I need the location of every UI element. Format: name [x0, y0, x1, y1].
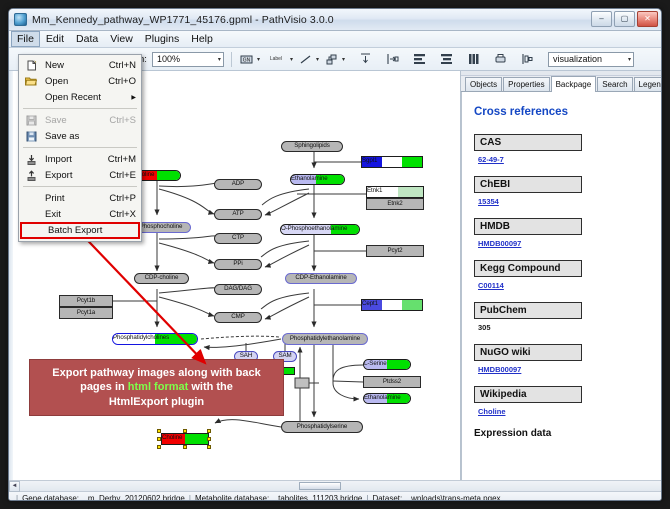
- interaction-tool-icon[interactable]: [324, 52, 339, 67]
- file-menu-accel-exit: Ctrl+X: [109, 209, 136, 220]
- tab-properties[interactable]: Properties: [503, 77, 549, 91]
- callout-line2-before: pages in: [80, 381, 128, 393]
- file-menu-item-save[interactable]: Save Ctrl+S: [19, 112, 141, 128]
- callout-line2-after: with the: [188, 381, 233, 393]
- toolbar-separator: [231, 52, 232, 67]
- maximize-button[interactable]: ▢: [614, 11, 635, 27]
- node-phosphatidylcholines-label: Phosphatidylcholines: [113, 334, 197, 344]
- interaction-dropdown-icon[interactable]: ▾: [342, 56, 345, 63]
- status-sep-1: |: [189, 494, 191, 501]
- xref-section-chebi: ChEBI: [474, 176, 582, 193]
- file-menu-label-open-recent: Open Recent: [45, 92, 101, 103]
- node-choline-selected[interactable]: Choline: [161, 433, 209, 445]
- xref-link-kegg[interactable]: C00114: [478, 281, 504, 290]
- node-etnk2[interactable]: Etnk2: [366, 198, 424, 210]
- node-choline-selected-label: Choline: [162, 434, 208, 444]
- file-menu-item-print[interactable]: Print Ctrl+P: [19, 190, 141, 206]
- gene-product-tool-icon[interactable]: GN: [239, 52, 254, 67]
- file-menu-item-save-as[interactable]: Save as: [19, 128, 141, 144]
- xref-section-wikipedia: Wikipedia: [474, 386, 582, 403]
- node-phosphatidylethanolamine[interactable]: Phosphatidylethanolamine: [282, 333, 368, 345]
- file-menu-accel-import: Ctrl+M: [108, 154, 136, 165]
- status-gene-database-label: Gene database:: [22, 494, 79, 501]
- node-o-phosphoethanolamine[interactable]: O-Phosphoethanolamine: [280, 224, 360, 235]
- close-button[interactable]: ✕: [637, 11, 658, 27]
- gene-product-dropdown-icon[interactable]: ▾: [257, 56, 260, 63]
- node-cdp-ethanolamine[interactable]: CDP-Ethanolamine: [285, 273, 357, 284]
- align-top-tool-icon[interactable]: [358, 52, 373, 67]
- menu-plugins[interactable]: Plugins: [139, 31, 185, 47]
- tab-search[interactable]: Search: [597, 77, 632, 91]
- status-sep-0: |: [16, 494, 18, 501]
- file-menu-label-save: Save: [45, 115, 67, 126]
- annotation-callout: Export pathway images along with back pa…: [29, 359, 284, 416]
- file-menu-item-open[interactable]: Open Ctrl+O: [19, 73, 141, 89]
- menu-file[interactable]: File: [11, 31, 40, 47]
- node-dag[interactable]: DAG/DAG: [214, 284, 262, 295]
- file-menu-label-export: Export: [45, 170, 72, 181]
- save-icon: [25, 114, 37, 126]
- chevron-right-icon: ▶: [131, 94, 136, 101]
- import-icon: [25, 153, 37, 165]
- menu-edit[interactable]: Edit: [40, 31, 70, 47]
- xref-value-kegg[interactable]: C00114: [478, 281, 649, 290]
- node-cept1-label: Cept1: [362, 300, 422, 310]
- callout-line2-highlight: html format: [128, 381, 189, 393]
- file-menu-label-open: Open: [45, 76, 68, 87]
- status-metabolite-database-value: ...tabolites_111203.bridge: [271, 494, 362, 501]
- file-menu-separator-3: [23, 186, 137, 187]
- new-file-icon: [25, 59, 37, 71]
- node-ptdss2[interactable]: Ptdss2: [363, 376, 421, 388]
- node-cdp-choline[interactable]: CDP-choline: [134, 273, 189, 284]
- align-left-tool-icon[interactable]: [385, 52, 400, 67]
- xref-value-cas[interactable]: 62-49-7: [478, 155, 649, 164]
- xref-value-pubchem: 305: [478, 323, 649, 332]
- backpage-content: Cross references CAS 62-49-7 ChEBI 15354…: [461, 92, 661, 480]
- file-menu-accel-save: Ctrl+S: [109, 115, 136, 126]
- window-controls: – ▢ ✕: [591, 11, 658, 27]
- node-sgpl1-label: Sgpl1: [362, 157, 422, 167]
- xref-link-wikipedia[interactable]: Choline: [478, 407, 506, 416]
- node-ethanolamine[interactable]: Ethanolamine: [290, 174, 345, 185]
- menu-data[interactable]: Data: [70, 31, 104, 47]
- common-height-tool-icon[interactable]: [520, 52, 535, 67]
- chevron-down-icon: ▾: [628, 56, 631, 63]
- file-menu-accel-new: Ctrl+N: [109, 60, 136, 71]
- node-sgpl1[interactable]: Sgpl1: [361, 156, 423, 168]
- xref-section-hmdb: HMDB: [474, 218, 582, 235]
- pathvisio-icon: [14, 13, 27, 26]
- file-menu-accel-open: Ctrl+O: [108, 76, 136, 87]
- chevron-down-icon: ▾: [218, 56, 221, 63]
- xref-section-kegg: Kegg Compound: [474, 260, 582, 277]
- menu-bar: File Edit Data View Plugins Help: [9, 31, 661, 48]
- file-menu-label-new: New: [45, 60, 64, 71]
- status-gene-database-value: ...m_Derby_20120602.bridge: [81, 494, 185, 501]
- side-panel-tabs: Objects Properties Backpage Search Legen…: [461, 76, 661, 92]
- xref-link-nugo[interactable]: HMDB00097: [478, 365, 521, 374]
- node-ethanolamine-label: Ethanolamine: [291, 175, 344, 184]
- node-ethanolamine-2[interactable]: Ethanolamine: [363, 393, 411, 404]
- line-dropdown-icon[interactable]: ▾: [316, 56, 319, 63]
- node-l-serine-label: L-Serine: [364, 360, 410, 369]
- label-tool-icon[interactable]: Label: [265, 52, 287, 67]
- file-menu-item-exit[interactable]: Exit Ctrl+X: [19, 206, 141, 222]
- node-ppi[interactable]: PPi: [214, 259, 262, 270]
- side-panel: Objects Properties Backpage Search Legen…: [461, 71, 661, 480]
- align-stack-tool-icon[interactable]: [412, 52, 427, 67]
- node-ethanolamine-2-label: Ethanolamine: [364, 394, 410, 403]
- node-o-phosphoethanolamine-label: O-Phosphoethanolamine: [281, 225, 359, 234]
- xref-value-hmdb[interactable]: HMDB00097: [478, 239, 649, 248]
- status-sep-2: |: [366, 494, 368, 501]
- tab-legend[interactable]: Legend: [634, 77, 662, 91]
- file-menu-accel-print: Ctrl+P: [109, 193, 136, 204]
- backpage-heading: Cross references: [474, 106, 649, 118]
- node-atp[interactable]: ATP: [214, 209, 262, 220]
- xref-value-nugo[interactable]: HMDB00097: [478, 365, 649, 374]
- screenshot-root: Mm_Kennedy_pathway_WP1771_45176.gpml - P…: [0, 0, 670, 509]
- node-adp[interactable]: ADP: [214, 179, 262, 190]
- title-bar: Mm_Kennedy_pathway_WP1771_45176.gpml - P…: [9, 9, 661, 31]
- node-pcyt1b[interactable]: Pcyt1b: [59, 295, 113, 307]
- file-menu-separator-2: [23, 147, 137, 148]
- export-icon: [25, 169, 37, 181]
- node-pcyt2[interactable]: Pcyt2: [366, 245, 424, 257]
- xref-section-pubchem: PubChem: [474, 302, 582, 319]
- xref-value-wikipedia[interactable]: Choline: [478, 407, 649, 416]
- minimize-button[interactable]: –: [591, 11, 612, 27]
- xref-section-cas: CAS: [474, 134, 582, 151]
- status-dataset-value: ...wnloads\trans-meta.pgex: [404, 494, 500, 501]
- visualization-value: visualization: [553, 54, 602, 64]
- node-etnk1-label: Etnk1: [367, 187, 423, 197]
- common-width-tool-icon[interactable]: [466, 52, 481, 67]
- menu-view[interactable]: View: [104, 31, 139, 47]
- node-ctp[interactable]: CTP: [214, 233, 262, 244]
- align-center-tool-icon[interactable]: [439, 52, 454, 67]
- tab-objects[interactable]: Objects: [465, 77, 502, 91]
- print-preview-tool-icon[interactable]: [493, 52, 508, 67]
- file-menu-label-print: Print: [45, 193, 65, 204]
- visualization-combo[interactable]: visualization ▾: [548, 52, 634, 67]
- node-l-serine[interactable]: L-Serine: [363, 359, 411, 370]
- file-menu-label-batch-export: Batch Export: [48, 225, 102, 236]
- scroll-left-icon[interactable]: ◄: [9, 481, 20, 492]
- file-menu-item-new[interactable]: New Ctrl+N: [19, 57, 141, 73]
- xref-link-hmdb[interactable]: HMDB00097: [478, 239, 521, 248]
- status-bar: | Gene database: ...m_Derby_20120602.bri…: [9, 491, 661, 501]
- file-menu-item-batch-export[interactable]: Batch Export: [20, 222, 140, 239]
- file-menu-separator-1: [23, 108, 137, 109]
- callout-line3: HtmlExport plugin: [109, 396, 204, 408]
- node-cept1[interactable]: Cept1: [361, 299, 423, 311]
- horizontal-scrollbar[interactable]: ◄: [9, 480, 661, 491]
- label-dropdown-icon[interactable]: ▾: [290, 56, 293, 63]
- xref-section-nugo: NuGO wiki: [474, 344, 582, 361]
- zoom-value: 100%: [157, 54, 180, 64]
- xref-value-chebi[interactable]: 15354: [478, 197, 649, 206]
- line-tool-icon[interactable]: [298, 52, 313, 67]
- folder-open-icon: [25, 75, 37, 87]
- file-menu-label-save-as: Save as: [45, 131, 79, 142]
- callout-line1: Export pathway images along with back: [52, 367, 260, 379]
- file-menu-accel-export: Ctrl+E: [109, 170, 136, 181]
- node-pcyt1a[interactable]: Pcyt1a: [59, 307, 113, 319]
- file-menu-item-export[interactable]: Export Ctrl+E: [19, 167, 141, 183]
- node-phosphatidylcholines[interactable]: Phosphatidylcholines: [112, 333, 198, 345]
- window-title: Mm_Kennedy_pathway_WP1771_45176.gpml - P…: [32, 14, 334, 26]
- expression-data-heading: Expression data: [474, 428, 649, 439]
- file-menu-label-exit: Exit: [45, 209, 61, 220]
- node-etnk1[interactable]: Etnk1: [366, 186, 424, 198]
- xref-link-cas[interactable]: 62-49-7: [478, 155, 504, 164]
- status-dataset-label: Dataset:: [372, 494, 402, 501]
- xref-link-chebi[interactable]: 15354: [478, 197, 499, 206]
- file-menu-item-import[interactable]: Import Ctrl+M: [19, 151, 141, 167]
- tab-backpage[interactable]: Backpage: [551, 76, 597, 92]
- file-menu-item-open-recent[interactable]: Open Recent ▶: [19, 89, 141, 105]
- node-cmp[interactable]: CMP: [214, 312, 262, 323]
- save-as-icon: [25, 130, 37, 142]
- application-window: Mm_Kennedy_pathway_WP1771_45176.gpml - P…: [8, 8, 662, 501]
- status-metabolite-database-label: Metabolite database:: [195, 494, 269, 501]
- file-menu-label-import: Import: [45, 154, 72, 165]
- node-sphingolipids[interactable]: Sphingolipids: [281, 141, 343, 152]
- svg-text:GN: GN: [243, 57, 251, 63]
- file-menu-popup[interactable]: New Ctrl+N Open Ctrl+O Open Recent ▶ Sav…: [18, 54, 142, 242]
- scrollbar-thumb[interactable]: [299, 482, 341, 490]
- zoom-combo[interactable]: 100% ▾: [152, 52, 224, 67]
- node-phosphatidylserine[interactable]: Phosphatidylserine: [281, 421, 363, 433]
- menu-help[interactable]: Help: [185, 31, 219, 47]
